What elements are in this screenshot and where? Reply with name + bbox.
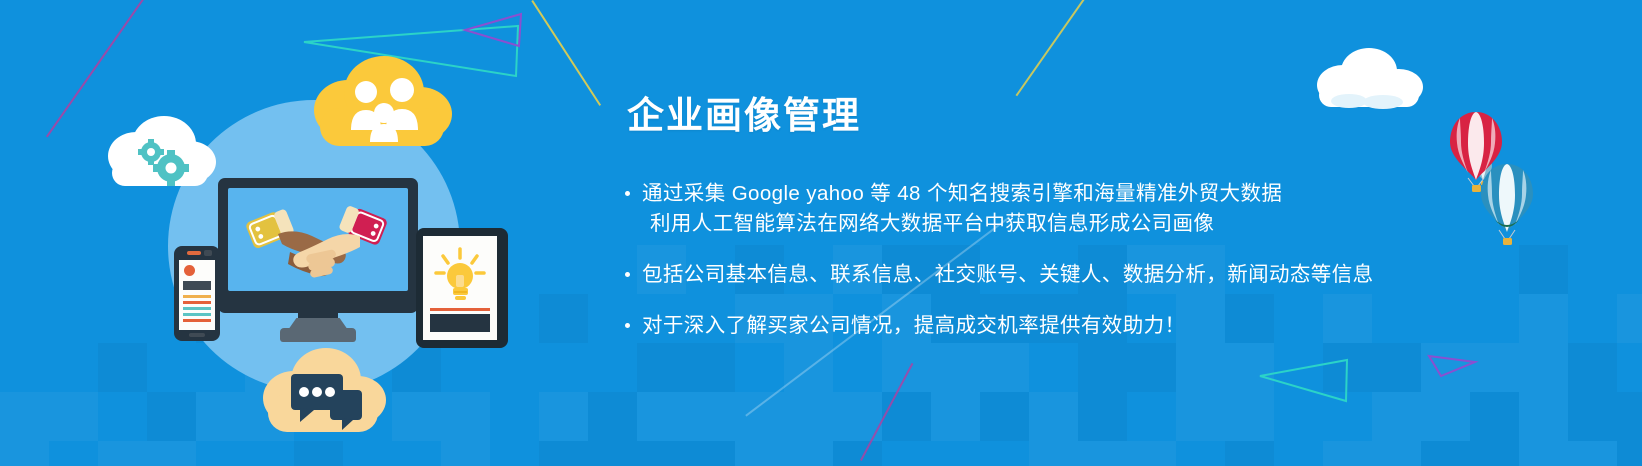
- enterprise-portrait-banner: 企业画像管理 通过采集 Google yahoo 等 48 个知名搜索引擎和海量…: [0, 0, 1642, 466]
- mosaic-square: [1421, 441, 1470, 466]
- mosaic-square: [735, 441, 784, 466]
- mosaic-square: [1225, 392, 1274, 441]
- cloud-gears-icon: [98, 112, 220, 200]
- monitor-frame: [218, 178, 418, 313]
- mosaic-square: [1323, 441, 1372, 466]
- diagonal-line-yellow-2: [1016, 0, 1086, 96]
- feature-bullet-3: 对于深入了解买家公司情况，提高成交机率提供有效助力！: [625, 311, 1505, 341]
- mosaic-square: [1470, 392, 1519, 441]
- bullet-dot-icon: [625, 191, 630, 196]
- mosaic-square: [1519, 392, 1568, 441]
- monitor-screen: [228, 188, 408, 291]
- tablet-icon: [416, 228, 508, 348]
- mosaic-square: [833, 441, 882, 466]
- mosaic-square: [0, 441, 49, 466]
- triangle-outline-teal-2: [1258, 358, 1350, 403]
- mosaic-square: [1519, 343, 1568, 392]
- mosaic-square: [735, 392, 784, 441]
- mosaic-square: [0, 392, 49, 441]
- mosaic-square: [1519, 441, 1568, 466]
- mosaic-square: [1568, 343, 1617, 392]
- mosaic-square: [539, 441, 588, 466]
- mosaic-square: [1176, 392, 1225, 441]
- smartphone-icon: [174, 246, 220, 341]
- mosaic-square: [931, 392, 980, 441]
- feature-bullet-1-line2: 利用人工智能算法在网络大数据平台中获取信息形成公司画像: [642, 209, 1505, 239]
- tablet-screen: [423, 236, 497, 340]
- devices-and-cloud-network-illustration: [78, 38, 548, 438]
- monitor-stand: [280, 328, 356, 342]
- banner-text-column: 企业画像管理 通过采集 Google yahoo 等 48 个知名搜索引擎和海量…: [625, 96, 1505, 362]
- mosaic-square: [1568, 392, 1617, 441]
- mosaic-square: [833, 392, 882, 441]
- bullet-dot-icon: [625, 272, 630, 277]
- mosaic-square: [441, 441, 490, 466]
- mosaic-square: [1519, 245, 1568, 294]
- mosaic-square: [882, 392, 931, 441]
- desktop-monitor-icon: [218, 178, 418, 348]
- mosaic-square: [588, 392, 637, 441]
- mosaic-square: [1372, 441, 1421, 466]
- feature-bullet-2: 包括公司基本信息、联系信息、社交账号、关键人、数据分析，新闻动态等信息: [625, 260, 1505, 290]
- mosaic-square: [1078, 441, 1127, 466]
- mosaic-square: [1029, 392, 1078, 441]
- mosaic-square: [1617, 392, 1642, 441]
- mosaic-square: [1617, 294, 1642, 343]
- mosaic-square: [1421, 392, 1470, 441]
- mosaic-square: [1078, 392, 1127, 441]
- cloud-users-icon: [304, 52, 456, 160]
- diagonal-line-magenta-2: [860, 363, 913, 461]
- handshake-icon: [238, 196, 398, 286]
- bullet-dot-icon: [625, 323, 630, 328]
- lightbulb-icon: [432, 246, 488, 302]
- mosaic-square: [1568, 441, 1617, 466]
- mosaic-square: [686, 441, 735, 466]
- feature-bullet-2-line1: 包括公司基本信息、联系信息、社交账号、关键人、数据分析，新闻动态等信息: [642, 263, 1374, 286]
- mosaic-square: [1372, 392, 1421, 441]
- feature-bullet-1-line1: 通过采集 Google yahoo 等 48 个知名搜索引擎和海量精准外贸大数据: [642, 182, 1282, 205]
- mosaic-square: [784, 392, 833, 441]
- mosaic-square: [1519, 294, 1568, 343]
- mosaic-square: [1470, 441, 1519, 466]
- mosaic-square: [637, 441, 686, 466]
- mosaic-square: [980, 392, 1029, 441]
- feature-bullet-1: 通过采集 Google yahoo 等 48 个知名搜索引擎和海量精准外贸大数据…: [625, 179, 1505, 239]
- mosaic-square: [1225, 441, 1274, 466]
- mosaic-square: [1617, 441, 1642, 466]
- mosaic-square: [294, 441, 343, 466]
- smartphone-screen: [179, 260, 215, 330]
- page-title: 企业画像管理: [627, 96, 1505, 137]
- cloud-chat-icon: [256, 342, 390, 442]
- mosaic-square: [588, 441, 637, 466]
- mosaic-square: [686, 392, 735, 441]
- mosaic-square: [637, 392, 686, 441]
- mosaic-square: [147, 441, 196, 466]
- feature-bullet-3-line1: 对于深入了解买家公司情况，提高成交机率提供有效助力！: [642, 314, 1185, 337]
- mosaic-square: [1127, 441, 1176, 466]
- mosaic-square: [784, 441, 833, 466]
- mosaic-square: [1029, 441, 1078, 466]
- mosaic-square: [98, 441, 147, 466]
